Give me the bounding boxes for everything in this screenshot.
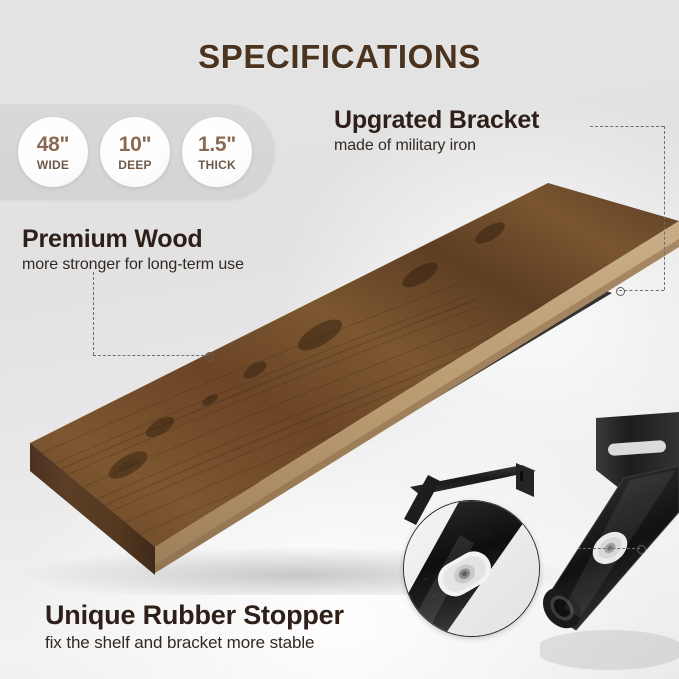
badge-width-value: 48"	[37, 134, 69, 155]
badge-width: 48" WIDE	[18, 117, 88, 187]
badge-width-label: WIDE	[37, 159, 69, 171]
callout-stopper: Unique Rubber Stopper fix the shelf and …	[45, 600, 344, 653]
page-title: SPECIFICATIONS	[0, 38, 679, 76]
callout-wood-title: Premium Wood	[22, 225, 244, 254]
leader-line-stopper	[578, 548, 640, 549]
rubber-stopper-closeup	[403, 500, 540, 637]
badge-thickness-value: 1.5"	[198, 134, 236, 155]
leader-line-bracket-bottom	[619, 290, 664, 291]
leader-line-wood-horizontal	[93, 355, 209, 356]
leader-line-wood-vertical	[93, 272, 94, 355]
leader-endpoint-bracket	[616, 287, 625, 296]
badge-thickness-label: THICK	[198, 159, 236, 171]
badge-depth: 10" DEEP	[100, 117, 170, 187]
callout-wood: Premium Wood more stronger for long-term…	[22, 225, 244, 274]
leader-endpoint-wood	[205, 352, 214, 361]
badge-depth-value: 10"	[119, 134, 151, 155]
callout-wood-subtitle: more stronger for long-term use	[22, 256, 244, 274]
callout-stopper-title: Unique Rubber Stopper	[45, 600, 344, 631]
specification-infographic: 48" WIDE 10" DEEP 1.5" THICK SPECIFICATI…	[0, 0, 679, 679]
callout-bracket-title: Upgrated Bracket	[334, 106, 539, 135]
leader-line-bracket-vertical	[664, 126, 665, 290]
callout-stopper-subtitle: fix the shelf and bracket more stable	[45, 633, 344, 653]
callout-bracket-subtitle: made of military iron	[334, 137, 539, 155]
leader-endpoint-stopper	[637, 545, 646, 554]
badge-depth-label: DEEP	[118, 159, 151, 171]
leader-line-bracket-top	[590, 126, 664, 127]
callout-bracket: Upgrated Bracket made of military iron	[334, 106, 539, 155]
bracket-closeup-arm	[540, 400, 679, 679]
badge-thickness: 1.5" THICK	[182, 117, 252, 187]
